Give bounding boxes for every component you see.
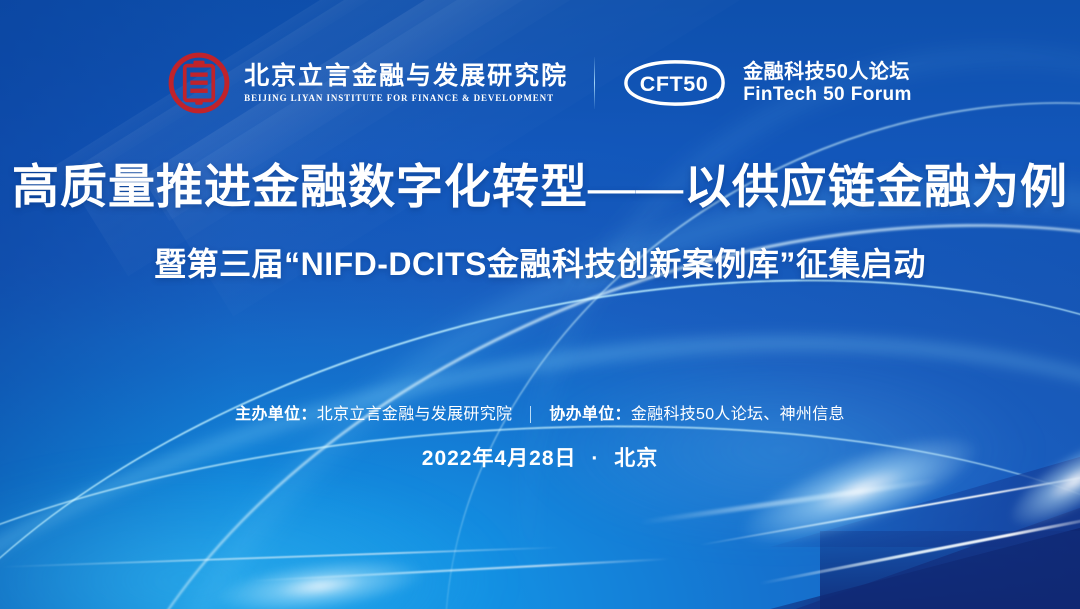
credits-row: 主办单位： 北京立言金融与发展研究院 协办单位： 金融科技50人论坛、神州信息 xyxy=(0,400,1080,424)
credit-host-label: 主办单位： xyxy=(235,400,317,424)
page-title: 高质量推进金融数字化转型——以供应链金融为例 xyxy=(0,163,1080,214)
institute-name-cn: 北京立言金融与发展研究院 xyxy=(244,64,568,89)
date-separator: · xyxy=(591,447,599,470)
cft50-name-cn: 金融科技50人论坛 xyxy=(743,61,912,83)
page-subtitle: 暨第三届“NIFD-DCITS金融科技创新案例库”征集启动 xyxy=(0,245,1080,283)
cft50-oval-icon: CFT50 xyxy=(621,60,729,106)
credit-coorganizer-label: 协办单位： xyxy=(549,400,631,424)
credit-host: 主办单位： 北京立言金融与发展研究院 xyxy=(235,400,512,424)
event-date: 2022年4月28日 xyxy=(422,447,577,470)
institute-name-block: 北京立言金融与发展研究院 BEIJING LIYAN INSTITUTE FOR… xyxy=(244,64,568,103)
cft50-name-block: 金融科技50人论坛 FinTech 50 Forum xyxy=(743,61,912,105)
liyan-seal-icon xyxy=(168,52,230,114)
cft50-name-en: FinTech 50 Forum xyxy=(743,84,912,105)
institute-logo: 北京立言金融与发展研究院 BEIJING LIYAN INSTITUTE FOR… xyxy=(168,52,568,114)
cft50-mark-text: CFT50 xyxy=(640,71,708,96)
poster-content: 北京立言金融与发展研究院 BEIJING LIYAN INSTITUTE FOR… xyxy=(0,0,1080,609)
event-poster: 北京立言金融与发展研究院 BEIJING LIYAN INSTITUTE FOR… xyxy=(0,0,1080,609)
cft50-logo: CFT50 金融科技50人论坛 FinTech 50 Forum xyxy=(621,60,912,106)
credit-coorganizer-value: 金融科技50人论坛、神州信息 xyxy=(631,400,845,424)
credit-coorganizer: 协办单位： 金融科技50人论坛、神州信息 xyxy=(549,400,845,424)
institute-name-en: BEIJING LIYAN INSTITUTE FOR FINANCE & DE… xyxy=(244,94,568,103)
logo-bar: 北京立言金融与发展研究院 BEIJING LIYAN INSTITUTE FOR… xyxy=(0,52,1080,114)
event-location: 北京 xyxy=(614,447,658,470)
date-location-line: 2022年4月28日 · 北京 xyxy=(0,442,1080,472)
credits-divider xyxy=(530,406,531,423)
logo-divider xyxy=(594,57,595,109)
credit-host-value: 北京立言金融与发展研究院 xyxy=(317,400,513,424)
